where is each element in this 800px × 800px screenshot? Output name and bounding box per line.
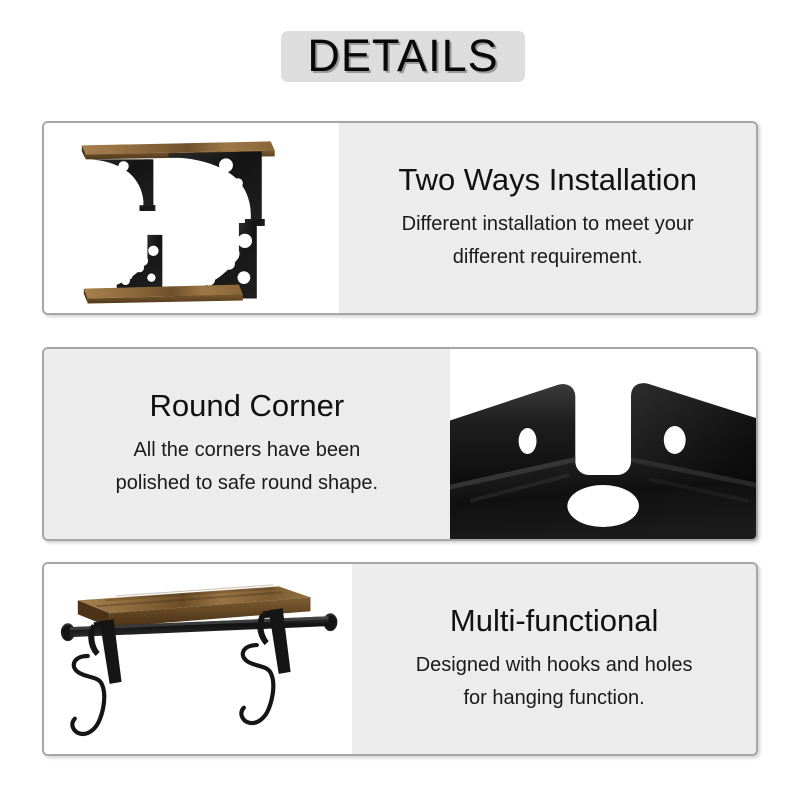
- panel-1-body-line-1: Different installation to meet your: [390, 208, 706, 240]
- multi-functional-illustration: [44, 564, 352, 754]
- panel-1-text: Two Ways Installation Different installa…: [339, 123, 756, 313]
- page-header: DETAILS: [0, 0, 800, 110]
- panel-3-body-line-2: for hanging function.: [452, 682, 657, 714]
- page-title: DETAILS: [281, 31, 525, 82]
- feature-panel-round-corner: Round Corner All the corners have been p…: [42, 347, 758, 541]
- two-ways-installation-illustration: [44, 123, 339, 313]
- panel-2-headline: Round Corner: [150, 389, 345, 423]
- round-corner-illustration: [450, 349, 756, 539]
- panel-2-body-line-1: All the corners have been: [121, 434, 372, 466]
- panel-3-headline: Multi-functional: [450, 604, 658, 638]
- panel-1-image: [44, 123, 339, 313]
- panel-3-text: Multi-functional Designed with hooks and…: [352, 564, 756, 754]
- feature-panel-two-ways-installation: Two Ways Installation Different installa…: [42, 121, 758, 315]
- panel-2-text: Round Corner All the corners have been p…: [44, 349, 450, 539]
- panel-2-image: [450, 349, 756, 539]
- panel-2-body-line-2: polished to safe round shape.: [104, 467, 390, 499]
- panel-1-body-line-2: different requirement.: [441, 241, 655, 273]
- feature-panel-multi-functional: Multi-functional Designed with hooks and…: [42, 562, 758, 756]
- details-badge: DETAILS: [281, 31, 525, 82]
- panel-3-body-line-1: Designed with hooks and holes: [404, 649, 705, 681]
- panel-1-headline: Two Ways Installation: [398, 163, 697, 197]
- panel-3-image: [44, 564, 352, 754]
